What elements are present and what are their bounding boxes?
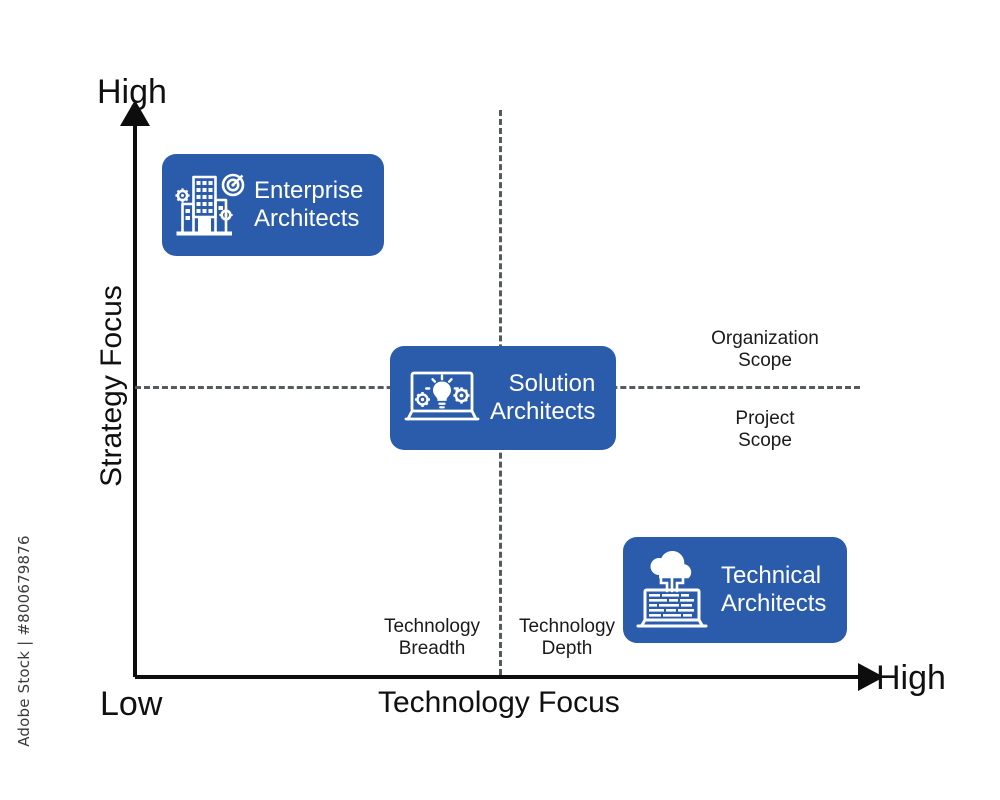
diagram-canvas: High Low High Technology Focus Strategy …: [0, 0, 1000, 800]
y-axis-title: Strategy Focus: [95, 271, 129, 501]
x-axis-line: [135, 675, 870, 679]
card-enterprise-architects-label: Enterprise Architects: [254, 177, 363, 233]
card-solution-architects[interactable]: Solution Architects: [390, 346, 616, 450]
note-project-scope: Project Scope: [690, 408, 840, 453]
note-technology-breadth: Technology Breadth: [358, 616, 506, 661]
x-axis-title: Technology Focus: [378, 686, 620, 720]
y-axis-line: [133, 115, 137, 677]
card-solution-architects-label: Solution Architects: [490, 370, 595, 426]
card-enterprise-architects[interactable]: Enterprise Architects: [162, 154, 384, 256]
note-organization-scope: Organization Scope: [690, 328, 840, 373]
card-technical-architects-label: Technical Architects: [721, 562, 826, 618]
x-axis-high-label: High: [876, 659, 946, 698]
cloud-laptop-code-icon: [633, 550, 711, 630]
card-technical-architects[interactable]: Technical Architects: [623, 537, 847, 643]
y-axis-high-label: High: [97, 73, 167, 112]
note-technology-depth: Technology Depth: [493, 616, 641, 661]
watermark-text: Adobe Stock | #800679876: [15, 531, 33, 751]
laptop-lightbulb-icon: [404, 367, 480, 429]
x-axis-low-label: Low: [100, 685, 162, 724]
office-building-icon: [172, 170, 246, 240]
